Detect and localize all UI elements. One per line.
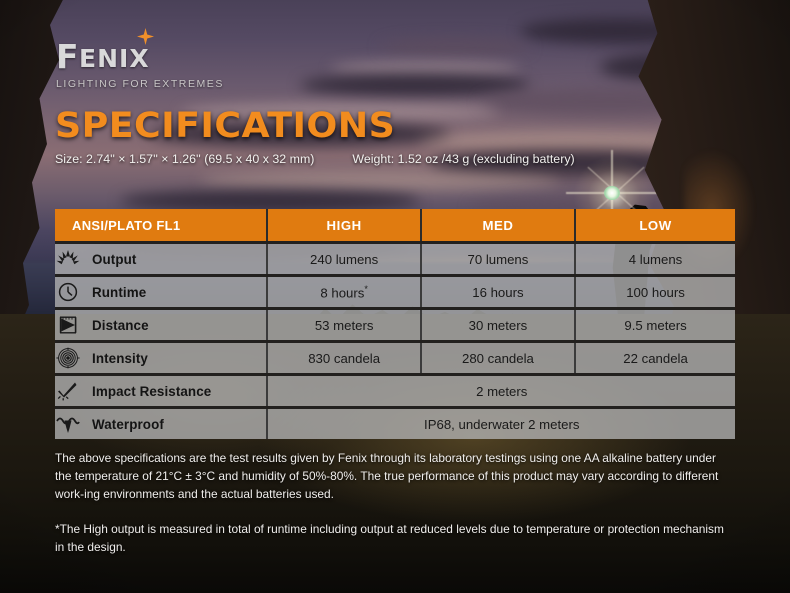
- row-label-text: Waterproof: [92, 417, 164, 432]
- specifications-page: FENIX LIGHTING FOR EXTREMES SPECIFICATIO…: [0, 0, 790, 593]
- table-header-high: HIGH: [268, 209, 421, 241]
- fenix-logo: FENIX LIGHTING FOR EXTREMES: [56, 40, 296, 90]
- table-row: Intensity 830 candela 280 candela 22 can…: [55, 343, 735, 373]
- row-label-waterproof: Waterproof: [55, 409, 268, 439]
- specifications-table: ANSI/PLATO FL1 HIGH MED LOW: [55, 209, 735, 439]
- footnotes: The above specifications are the test re…: [55, 449, 727, 556]
- fenix-wordmark-rest: ENIX: [79, 44, 150, 73]
- intensity-target-icon: [55, 347, 81, 369]
- fenix-wordmark: FENIX: [56, 40, 296, 73]
- row-label-text: Runtime: [92, 285, 146, 300]
- fenix-tagline: LIGHTING FOR EXTREMES: [56, 78, 296, 90]
- weight-text: Weight: 1.52 oz /43 g (excluding battery…: [352, 152, 574, 166]
- cell-distance-low: 9.5 meters: [576, 310, 735, 340]
- table-row: Distance 53 meters 30 meters 9.5 meters: [55, 310, 735, 340]
- size-weight-line: Size: 2.74'' × 1.57'' × 1.26'' (69.5 x 4…: [55, 152, 755, 166]
- row-label-text: Impact Resistance: [92, 384, 211, 399]
- footnote-2: *The High output is measured in total of…: [55, 520, 727, 556]
- cell-runtime-med: 16 hours: [422, 277, 576, 307]
- row-label-intensity: Intensity: [55, 343, 268, 373]
- cell-value: 8 hours: [320, 285, 364, 300]
- table-row: Waterproof IP68, underwater 2 meters: [55, 409, 735, 439]
- cell-runtime-high: 8 hours*: [268, 277, 421, 307]
- row-label-text: Output: [92, 252, 136, 267]
- cell-output-low: 4 lumens: [576, 244, 735, 274]
- table-header-med: MED: [422, 209, 576, 241]
- cell-distance-high: 53 meters: [268, 310, 421, 340]
- table-header-row: ANSI/PLATO FL1 HIGH MED LOW: [55, 209, 735, 241]
- cloud: [300, 74, 530, 96]
- table-row: Runtime 8 hours* 16 hours 100 hours: [55, 277, 735, 307]
- cell-runtime-low: 100 hours: [576, 277, 735, 307]
- cell-impact-resistance-value: 2 meters: [268, 376, 735, 406]
- table-row: Output 240 lumens 70 lumens 4 lumens: [55, 244, 735, 274]
- cell-output-high: 240 lumens: [268, 244, 421, 274]
- row-label-text: Intensity: [92, 351, 148, 366]
- table-header-low: LOW: [576, 209, 735, 241]
- clock-icon: [55, 281, 81, 303]
- waterproof-wave-icon: [55, 413, 81, 435]
- cell-output-med: 70 lumens: [422, 244, 576, 274]
- cell-intensity-low: 22 candela: [576, 343, 735, 373]
- table-header-ansi: ANSI/PLATO FL1: [55, 209, 268, 241]
- cell-intensity-med: 280 candela: [422, 343, 576, 373]
- footnote-1: The above specifications are the test re…: [55, 449, 727, 503]
- sun-burst-icon: [55, 248, 81, 270]
- cloud: [200, 172, 560, 190]
- row-label-runtime: Runtime: [55, 277, 268, 307]
- row-label-distance: Distance: [55, 310, 268, 340]
- footnote-marker: *: [364, 284, 368, 294]
- row-label-impact-resistance: Impact Resistance: [55, 376, 268, 406]
- cloud: [380, 38, 530, 56]
- table-row: Impact Resistance 2 meters: [55, 376, 735, 406]
- size-text: Size: 2.74'' × 1.57'' × 1.26'' (69.5 x 4…: [55, 152, 314, 166]
- row-label-output: Output: [55, 244, 268, 274]
- fenix-wordmark-f: F: [56, 37, 79, 76]
- cell-waterproof-value: IP68, underwater 2 meters: [268, 409, 735, 439]
- cell-intensity-high: 830 candela: [268, 343, 421, 373]
- beam-distance-icon: [55, 314, 81, 336]
- impact-check-icon: [55, 380, 81, 402]
- row-label-text: Distance: [92, 318, 149, 333]
- headlamp-light: [604, 186, 620, 200]
- cell-distance-med: 30 meters: [422, 310, 576, 340]
- page-title: SPECIFICATIONS: [55, 106, 395, 146]
